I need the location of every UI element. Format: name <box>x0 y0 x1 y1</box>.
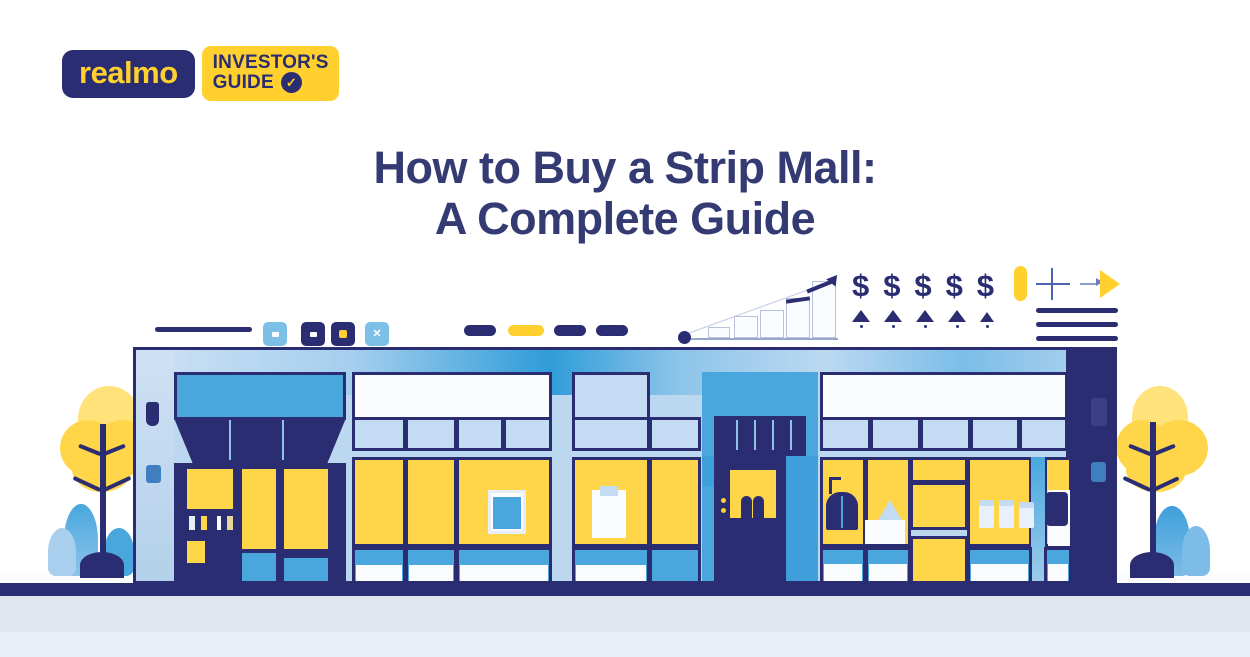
chart-axis <box>678 338 838 340</box>
storefront-3-base-b <box>649 547 701 584</box>
dollar-icon-4: $ <box>946 270 963 301</box>
dollar-symbol-row: $ $ $ $ $ <box>852 270 994 301</box>
shuffle-tile-icon: ✕ <box>365 322 389 346</box>
up-triangle-icon-3 <box>916 310 934 322</box>
triangle-group-4 <box>948 310 966 328</box>
document-line-2 <box>1036 322 1118 327</box>
triangle-dot-4 <box>956 325 959 328</box>
chart-bar-3 <box>760 310 784 338</box>
dollar-icon-2: $ <box>883 270 900 301</box>
storefront-1-shelf-1 <box>186 513 198 533</box>
plus-icon-horizontal <box>1036 283 1070 285</box>
storefront-1-base-2 <box>281 555 331 584</box>
dollar-icon-5: $ <box>977 270 994 301</box>
triangle-dot-2 <box>892 325 895 328</box>
storefront-2-display-screen <box>493 497 521 529</box>
storefront-5-base-white-1 <box>824 564 862 584</box>
up-triangle-icon-4 <box>948 310 966 322</box>
storefront-5-transom-3 <box>920 417 971 451</box>
storefront-2-window-b <box>405 457 457 547</box>
storefront-5-base-white-5 <box>1048 564 1068 584</box>
play-triangle-icon <box>1100 270 1120 298</box>
chart-bar-4-cap <box>786 296 810 303</box>
pill-1-icon <box>464 325 496 336</box>
shirt-display <box>1046 492 1068 526</box>
storefront-2-transom-2 <box>405 417 457 451</box>
entrance-awning-stripe-2 <box>754 420 756 450</box>
entrance-awning-stripe-3 <box>772 420 774 450</box>
tree-left-bush-b <box>48 528 76 576</box>
storefront-5-transom-5 <box>1019 417 1068 451</box>
hero-banner: ✕ $ $ $ $ $ <box>0 0 1250 657</box>
strip-mall-facade <box>133 347 1117 584</box>
dress-display-cone <box>877 500 903 522</box>
storefront-1-lower-panel <box>184 538 208 566</box>
dollar-icon-1: $ <box>852 270 869 301</box>
ground-shadow <box>0 592 1250 632</box>
storefront-1-awning-stripe-1 <box>229 420 231 460</box>
entrance-door-arch-left <box>741 496 752 518</box>
storefront-3-window-b <box>649 457 701 547</box>
small-arrow-icon <box>1096 278 1103 286</box>
curb-line <box>0 583 1250 596</box>
growth-bar-chart <box>678 272 838 340</box>
storefront-3-transom-b <box>649 417 701 451</box>
coat-hook-bar <box>829 477 841 480</box>
entrance-side-panel <box>786 486 818 584</box>
badge-line-2-text: GUIDE <box>213 73 274 92</box>
tree-left-base <box>80 552 124 578</box>
storefront-5-transom-2 <box>870 417 921 451</box>
badge-line-2: GUIDE ✓ <box>213 72 329 93</box>
yellow-bar-icon <box>1014 266 1027 301</box>
plus-icon-vertical <box>1051 268 1053 300</box>
tree-right-base <box>1130 552 1174 578</box>
wifi-tile-icon <box>263 322 287 346</box>
wall-sign-right-lower <box>1091 462 1106 482</box>
storefront-1-window-c <box>281 466 331 552</box>
storefront-2-transom-3 <box>456 417 504 451</box>
storefront-3-dress-collar <box>600 486 618 496</box>
wall-sign-left-lower <box>146 465 161 483</box>
entrance-tower-upper <box>702 372 818 420</box>
storefront-3-sign <box>572 372 650 420</box>
short-dash-icon <box>1080 283 1096 285</box>
tree-right-bush-b <box>1182 526 1210 576</box>
check-circle-icon: ✓ <box>281 72 302 93</box>
storefront-2-window-a <box>352 457 406 547</box>
storefront-1-awning <box>174 418 346 468</box>
facade-right-wall <box>1066 350 1114 584</box>
brand-logo[interactable]: realmo INVESTOR'S GUIDE ✓ <box>62 46 339 101</box>
storefront-1-sign <box>174 372 346 420</box>
triangle-dot-5 <box>986 325 989 328</box>
triangle-row <box>852 310 994 328</box>
storefront-3-transom <box>572 417 650 451</box>
storefront-2-base-white-1 <box>356 565 402 584</box>
badge-line-1: INVESTOR'S <box>213 53 329 72</box>
triangle-group-2 <box>884 310 902 328</box>
chart-trend-arrow-icon <box>826 271 842 286</box>
entrance-door-knob-lower[interactable] <box>721 508 726 513</box>
triangle-dot-3 <box>924 325 927 328</box>
cloud-tile-icon <box>301 322 325 346</box>
storefront-5-window-c1 <box>910 457 968 483</box>
storefront-5-window-c3 <box>910 536 968 584</box>
chart-bar-4 <box>786 298 810 338</box>
triangle-group-3 <box>916 310 934 328</box>
chart-trend-line <box>688 282 829 334</box>
up-triangle-icon-5 <box>980 312 994 322</box>
pill-4-icon <box>596 325 628 336</box>
jar-display-1-lid <box>979 500 994 506</box>
document-line-3 <box>1036 336 1118 341</box>
triangle-dot-1 <box>860 325 863 328</box>
storefront-1-shelf-4 <box>224 513 236 533</box>
coat-seam <box>841 496 843 528</box>
wall-sign-right-upper <box>1091 398 1107 426</box>
storefront-5-base-white-2 <box>869 564 907 584</box>
storefront-1-awning-stripe-2 <box>282 420 284 460</box>
wall-sign-left-upper <box>146 402 159 426</box>
storefront-3-base-white <box>576 565 646 584</box>
page-title-line-2: A Complete Guide <box>0 194 1250 244</box>
storefront-1-base-1 <box>239 550 279 584</box>
entrance-awning-stripe-1 <box>736 420 738 450</box>
dash-line-icon <box>155 327 252 332</box>
storefront-3-dress-display <box>592 490 626 538</box>
jar-display-2-lid <box>999 500 1014 506</box>
realmo-wordmark[interactable]: realmo <box>62 50 195 98</box>
page-title: How to Buy a Strip Mall: A Complete Guid… <box>0 143 1250 244</box>
document-lines-group <box>1014 266 1119 338</box>
storefront-5-base-white-4 <box>971 564 1028 584</box>
page-title-line-1: How to Buy a Strip Mall: <box>0 143 1250 193</box>
jar-display-3-lid <box>1019 502 1034 508</box>
storefront-2-sign <box>352 372 552 420</box>
dress-display-base <box>865 520 905 544</box>
document-line-1 <box>1036 308 1118 313</box>
pill-3-icon <box>554 325 586 336</box>
storefront-5-window-c2 <box>910 482 968 530</box>
storefront-2-transom-4 <box>503 417 552 451</box>
chart-bar-2 <box>734 316 758 338</box>
up-triangle-icon-2 <box>884 310 902 322</box>
storefront-1-shelf-2 <box>198 513 210 533</box>
pill-2-icon <box>508 325 544 336</box>
investors-guide-badge[interactable]: INVESTOR'S GUIDE ✓ <box>202 46 339 101</box>
up-triangle-icon-1 <box>852 310 870 322</box>
storefront-5-transom-4 <box>970 417 1020 451</box>
chart-bar-5-cap <box>806 279 835 294</box>
storefront-1-shelf-3 <box>214 513 224 533</box>
storefront-5-sign <box>820 372 1068 420</box>
storefront-1-window-a <box>184 466 236 512</box>
entrance-awning-stripe-4 <box>790 420 792 450</box>
entrance-door-arch-right <box>753 496 764 518</box>
storefront-1-window-b <box>239 466 279 552</box>
storefront-2-base-white-3 <box>460 565 548 584</box>
triangle-group-1 <box>852 310 870 328</box>
storefront-5-transom-1 <box>820 417 871 451</box>
dollar-icon-3: $ <box>914 270 931 301</box>
storefront-2-transom-1 <box>352 417 406 451</box>
triangle-group-5 <box>980 312 994 328</box>
storefront-2-base-white-2 <box>409 565 453 584</box>
chart-bar-5 <box>812 281 836 338</box>
coat-hook <box>829 478 832 494</box>
chart-bar-1 <box>708 327 730 338</box>
entrance-door-knob-upper[interactable] <box>721 498 726 503</box>
tree-right <box>1110 386 1230 586</box>
chart-origin-dot <box>678 331 691 344</box>
shuffle-glyph: ✕ <box>372 329 381 340</box>
note-tile-icon <box>331 322 355 346</box>
